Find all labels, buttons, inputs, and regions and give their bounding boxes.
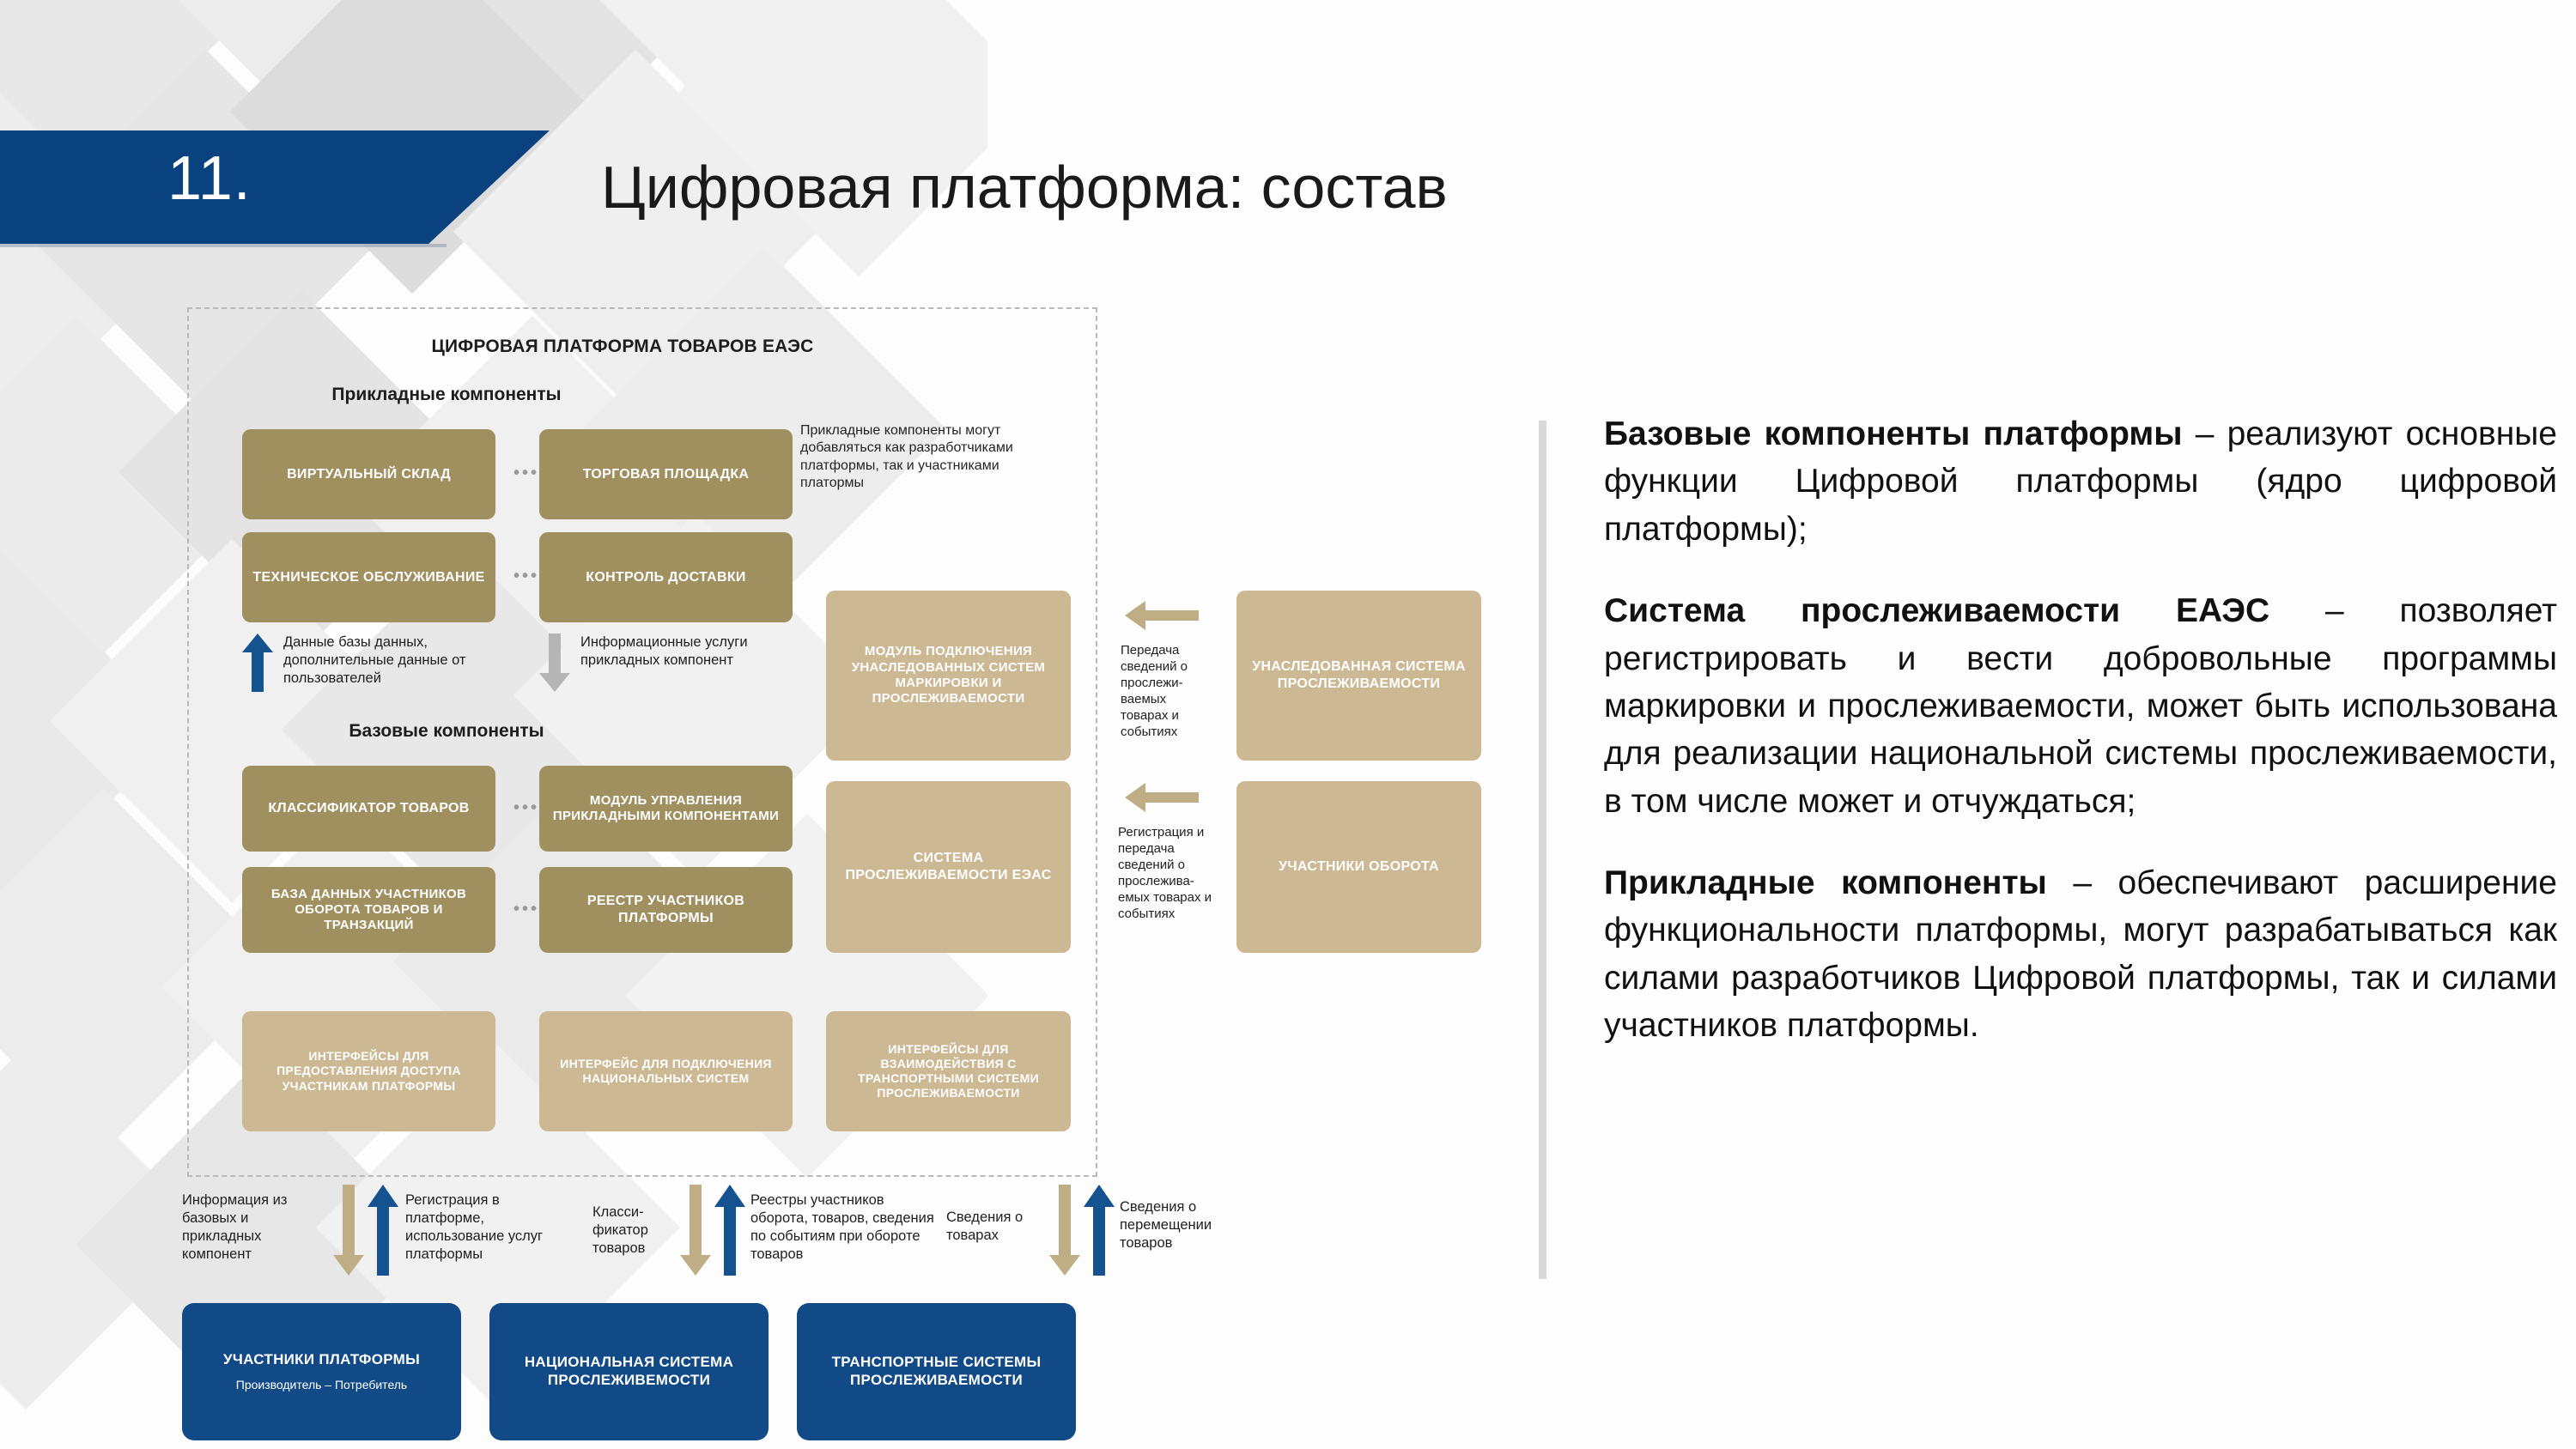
box-virtual-warehouse[interactable]: ВИРТУАЛЬНЫЙ СКЛАД [242, 429, 495, 519]
paragraph-traceability-system-term: Система прослеживаемости ЕАЭС [1604, 592, 2269, 629]
slide-number-band [0, 130, 550, 244]
slide-root: 11. Цифровая платформа: состав ЦИФРОВАЯ … [0, 0, 2576, 1449]
slide-number: 11. [167, 148, 252, 209]
description-panel: Базовые компоненты платформы – реализуют… [1604, 410, 2557, 1050]
arrow-left-tan-1-icon [1125, 601, 1199, 630]
arrow-pair-1-icon [333, 1185, 398, 1276]
dots-base-row2: ••• [513, 900, 539, 919]
arrow-up-blue-icon [242, 634, 273, 692]
section-label-base: Базовые компоненты [266, 721, 627, 742]
flow-note-classifier: Класси-фикатор товаров [592, 1203, 678, 1258]
box-eeas-traceability-system[interactable]: СИСТЕМА ПРОСЛЕЖИВАЕМОСТИ ЕЭАС [826, 781, 1071, 953]
box-interface-transport-systems[interactable]: ИНТЕРФЕЙСЫ ДЛЯ ВЗАИМОДЕЙСТВИЯ С ТРАНСПОР… [826, 1011, 1071, 1131]
arrow-down-gray-icon [539, 634, 570, 692]
note-info-services: Информационные услуги прикладных компоне… [580, 634, 787, 670]
arrow-left-tan-2-icon [1125, 783, 1199, 812]
box-interface-national-systems[interactable]: ИНТЕРФЕЙС ДЛЯ ПОДКЛЮЧЕНИЯ НАЦИОНАЛЬНЫХ С… [539, 1011, 793, 1131]
paragraph-applied-components-term: Прикладные компоненты [1604, 864, 2047, 901]
flow-note-registries: Реестры участников оборота, товаров, све… [750, 1191, 939, 1264]
slide-number-band-edge [0, 244, 447, 247]
paragraph-base-components-term: Базовые компоненты платформы [1604, 415, 2183, 452]
box-legacy-traceability-system[interactable]: УНАСЛЕДОВАННАЯ СИСТЕМА ПРОСЛЕЖИВАЕМОСТИ [1236, 591, 1481, 761]
paragraph-traceability-system: Система прослеживаемости ЕАЭС – позволяе… [1604, 587, 2557, 825]
page-title: Цифровая платформа: состав [601, 153, 1448, 222]
arrow-pair-2-icon [680, 1185, 745, 1276]
platform-diagram: ЦИФРОВАЯ ПЛАТФОРМА ТОВАРОВ ЕАЭС Прикладн… [0, 283, 1202, 1449]
dots-applied-row1: ••• [513, 464, 539, 483]
box-technical-service[interactable]: ТЕХНИЧЕСКОЕ ОБСЛУЖИВАНИЕ [242, 532, 495, 622]
box-national-traceability-system[interactable]: НАЦИОНАЛЬНАЯ СИСТЕМА ПРОСЛЕЖИВЕМОСТИ [489, 1303, 769, 1440]
note-registration-transfer: Регистрация и передача сведений о просле… [1118, 824, 1219, 922]
box-goods-classifier[interactable]: КЛАССИФИКАТОР ТОВАРОВ [242, 766, 495, 852]
box-platform-participants-registry[interactable]: РЕЕСТР УЧАСТНИКОВ ПЛАТФОРМЫ [539, 867, 793, 953]
section-label-applied: Прикладные компоненты [266, 385, 627, 405]
flow-note-registration-platform: Регистрация в платформе, использование у… [405, 1191, 577, 1264]
box-legacy-connection-module[interactable]: МОДУЛЬ ПОДКЛЮЧЕНИЯ УНАСЛЕДОВАННЫХ СИСТЕМ… [826, 591, 1071, 761]
box-transport-traceability-systems[interactable]: ТРАНСПОРТНЫЕ СИСТЕМЫ ПРОСЛЕЖИВАЕМОСТИ [797, 1303, 1076, 1440]
arrow-pair-3-icon [1049, 1185, 1115, 1276]
dots-base-row1: ••• [513, 798, 539, 818]
diagram-title: ЦИФРОВАЯ ПЛАТФОРМА ТОВАРОВ ЕАЭС [266, 336, 979, 357]
flow-note-movement-info: Сведения о перемещении товаров [1120, 1198, 1266, 1252]
applied-components-note: Прикладные компоненты могут добавляться … [800, 422, 1058, 493]
box-delivery-control[interactable]: КОНТРОЛЬ ДОСТАВКИ [539, 532, 793, 622]
box-applied-components-management-module[interactable]: МОДУЛЬ УПРАВЛЕНИЯ ПРИКЛАДНЫМИ КОМПОНЕНТА… [539, 766, 793, 852]
box-platform-participants[interactable]: УЧАСТНИКИ ПЛАТФОРМЫ Производитель – Потр… [182, 1303, 461, 1440]
paragraph-base-components: Базовые компоненты платформы – реализуют… [1604, 410, 2557, 553]
box-turnover-participants[interactable]: УЧАСТНИКИ ОБОРОТА [1236, 781, 1481, 953]
flow-note-goods-info: Сведения о товарах [946, 1209, 1042, 1245]
dots-applied-row2: ••• [513, 567, 539, 586]
box-trading-platform[interactable]: ТОРГОВАЯ ПЛОЩАДКА [539, 429, 793, 519]
box-participants-database[interactable]: БАЗА ДАННЫХ УЧАСТНИКОВ ОБОРОТА ТОВАРОВ И… [242, 867, 495, 953]
note-db-data: Данные базы данных, дополнительные данны… [283, 634, 489, 688]
paragraph-applied-components: Прикладные компоненты – обеспечивают рас… [1604, 859, 2557, 1050]
note-transfer-info: Передача сведений о прослежи-ваемых това… [1121, 642, 1215, 740]
box-interface-access[interactable]: ИНТЕРФЕЙСЫ ДЛЯ ПРЕДОСТАВЛЕНИЯ ДОСТУПА УЧ… [242, 1011, 495, 1131]
flow-note-info-from-components: Информация из базовых и прикладных компо… [182, 1191, 328, 1264]
panel-divider [1539, 421, 1546, 1279]
